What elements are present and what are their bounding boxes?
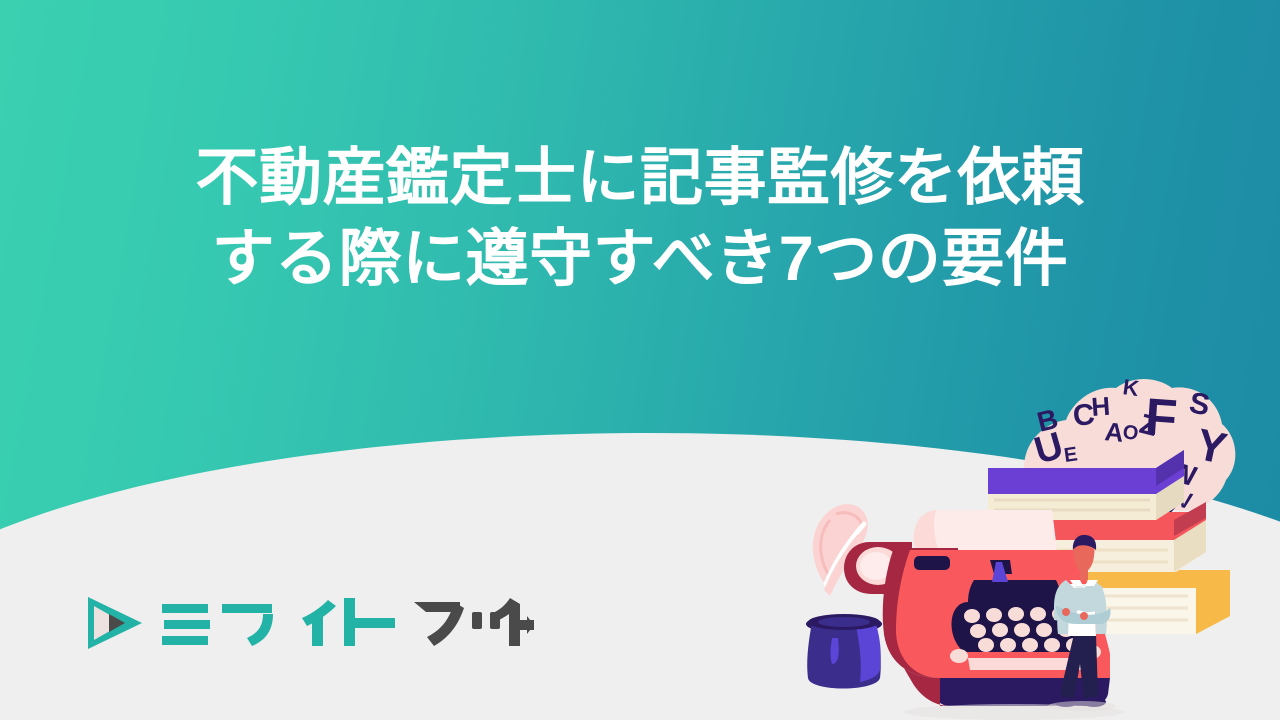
svg-text:F: F <box>1143 388 1179 448</box>
svg-text:H: H <box>1090 391 1111 422</box>
banner-root: 不動産鑑定士に記事監修を依頼 する際に遵守すべき7つの要件 <box>0 0 1280 720</box>
illustration: U B E C D R A H K O Z F S Y W V X <box>744 334 1280 720</box>
brand-logo[interactable] <box>84 592 534 659</box>
logo-wordmark-dark <box>414 594 534 657</box>
logo-triangle-icon <box>84 592 146 659</box>
logo-wordmark <box>160 594 442 657</box>
quill-and-ink <box>806 504 882 688</box>
